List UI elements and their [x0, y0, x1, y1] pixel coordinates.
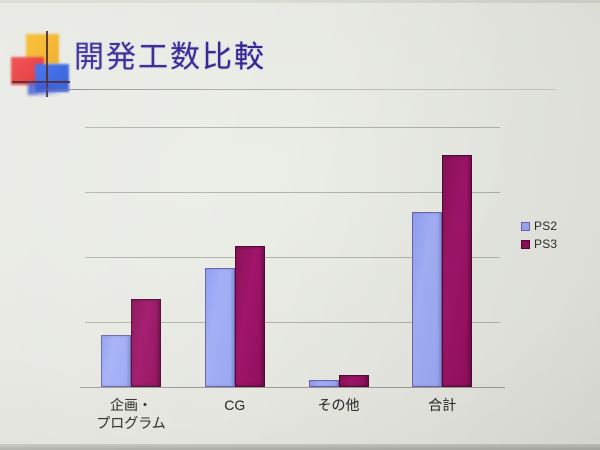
- legend-swatch-ps3-icon: [521, 240, 530, 249]
- category-label-line: 合計: [382, 396, 502, 414]
- legend-item-ps2: PS2: [521, 217, 557, 235]
- bar-ps2: [309, 380, 339, 387]
- category-label-line: CG: [175, 396, 295, 414]
- category-label: 合計: [382, 396, 502, 414]
- presentation-slide: 開発工数比較 企画・プログラムCGその他合計 PS2PS3: [0, 0, 600, 450]
- bar-group: [205, 120, 265, 387]
- chart-baseline-axis: [80, 387, 505, 388]
- category-label: CG: [175, 396, 295, 414]
- legend-swatch-ps2-icon: [521, 222, 530, 231]
- category-label-line: 企画・: [71, 396, 191, 414]
- bar-group: [412, 120, 472, 387]
- legend-item-ps3: PS3: [521, 235, 557, 253]
- category-label: その他: [279, 396, 399, 414]
- category-label-line: その他: [279, 396, 399, 414]
- bar-ps3: [235, 246, 265, 387]
- category-label-line: プログラム: [71, 414, 191, 432]
- legend-label: PS2: [534, 219, 557, 233]
- chart-plot-area: [85, 120, 500, 387]
- bar-ps2: [101, 335, 131, 387]
- legend-label: PS3: [534, 237, 557, 251]
- bar-ps2: [412, 212, 442, 387]
- bar-ps3: [442, 155, 472, 387]
- category-label: 企画・プログラム: [71, 396, 191, 432]
- bar-ps3: [339, 375, 369, 387]
- bar-ps2: [205, 268, 235, 387]
- bar-ps3: [131, 299, 161, 387]
- bar-group: [101, 120, 161, 387]
- bar-group: [309, 120, 369, 387]
- bar-chart: 企画・プログラムCGその他合計: [0, 0, 600, 450]
- chart-legend: PS2PS3: [521, 217, 557, 253]
